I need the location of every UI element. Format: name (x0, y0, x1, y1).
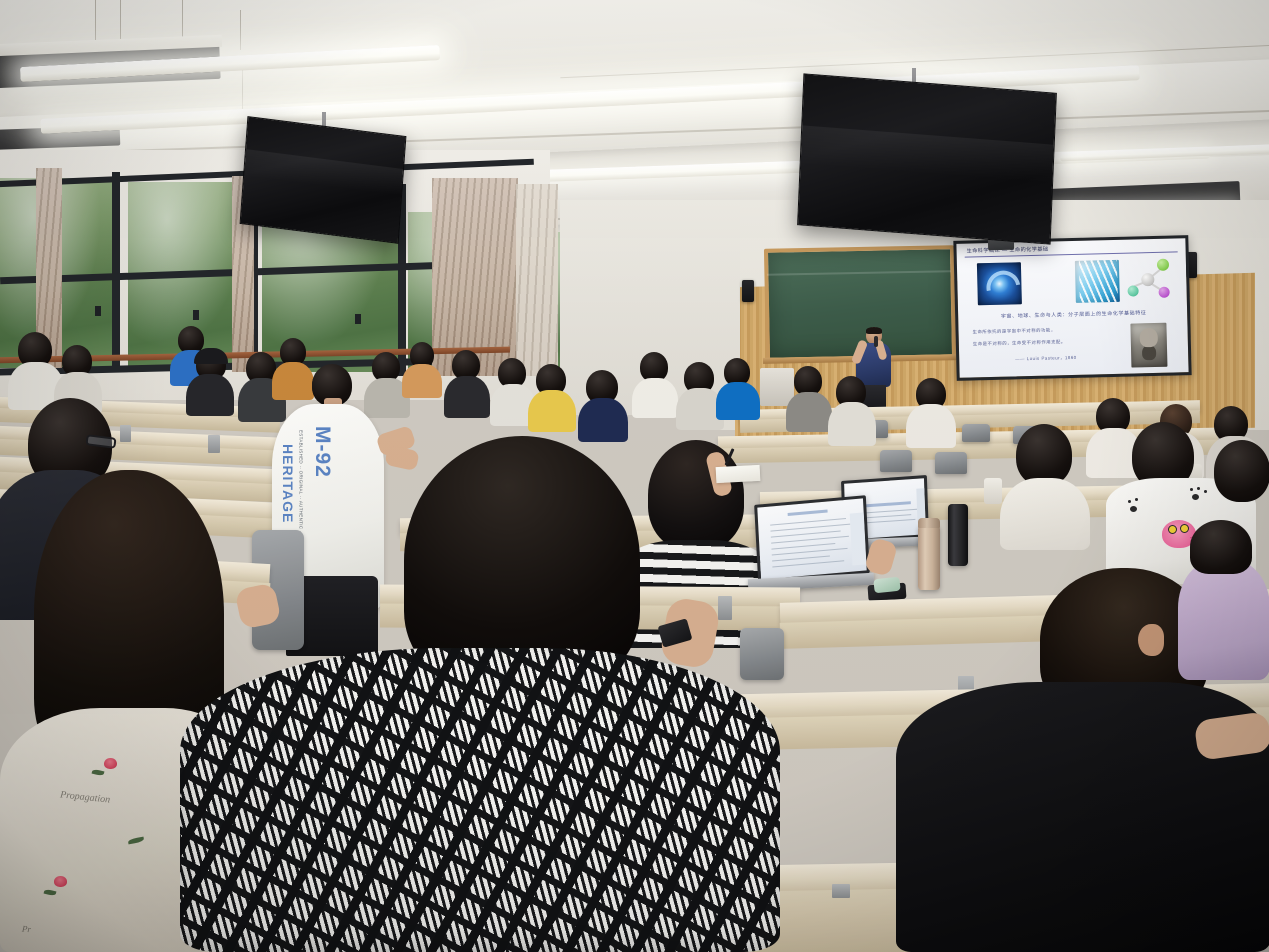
student-torso (1000, 478, 1090, 550)
bottle-black[interactable] (948, 504, 968, 566)
seat-back[interactable] (880, 450, 912, 472)
window-handle[interactable] (355, 314, 361, 324)
window-mullion (112, 172, 120, 372)
slide-quote-attribution: —— Louis Pasteur，1860 (1015, 355, 1077, 363)
cup-white[interactable] (984, 478, 1002, 504)
tv-right[interactable] (797, 73, 1057, 244)
molecule-image (1125, 257, 1174, 304)
left-wall-speaker (742, 280, 754, 302)
student-patterned-shirt (180, 648, 780, 952)
student-ear (1138, 624, 1164, 656)
window-handle[interactable] (193, 310, 199, 320)
tee-print-main: M-92 (310, 426, 334, 478)
lecture-hall-photo: 生命科学概论 — 生命的化学基础 宇宙、地球、生命与人类：分子层面上的生命化学基… (0, 0, 1269, 952)
student-head (1214, 440, 1269, 502)
desk-divider-clip (718, 596, 732, 620)
lecturer-hair (866, 327, 882, 334)
light-hanger (240, 10, 241, 50)
seat-back[interactable] (962, 424, 990, 442)
galaxy-image (977, 262, 1022, 305)
student-head (1016, 424, 1072, 486)
laptop-foreground[interactable] (754, 495, 870, 583)
slide-body-text: 宇宙、地球、生命与人类：分子层面上的生命化学基础特征 (972, 308, 1175, 320)
student-heritage-hand (384, 445, 419, 471)
slide-quote-line-2: 生命是不对称的，生命受不对称作用支配。 (973, 339, 1066, 347)
shirt-script-text: Propagation (60, 789, 111, 805)
desk-divider-clip (832, 884, 850, 898)
thermos-beige[interactable] (918, 524, 940, 590)
student-head (1190, 520, 1252, 574)
seat-back[interactable] (935, 452, 967, 474)
notebook-open[interactable] (716, 465, 761, 483)
seat-back[interactable] (740, 628, 784, 680)
tv-left[interactable] (240, 116, 407, 244)
light-hanger (242, 65, 243, 110)
phone-charm (873, 577, 900, 594)
desk-divider-clip (208, 435, 220, 453)
curtain[interactable] (516, 184, 558, 376)
desk-divider-clip (120, 425, 131, 442)
slide-quote-line-1: 生命所依托的是宇宙中不对称的功能， (972, 327, 1055, 335)
tee-print-sub: HERITAGE (280, 444, 296, 523)
portrait-image (1130, 323, 1167, 368)
thermos-cap[interactable] (918, 518, 940, 528)
microphone[interactable] (874, 336, 878, 347)
student-lavender-tee (1178, 560, 1269, 680)
dna-image (1075, 260, 1120, 303)
projection-screen: 生命科学概论 — 生命的化学基础 宇宙、地球、生命与人类：分子层面上的生命化学基… (953, 235, 1191, 381)
window-handle[interactable] (95, 306, 101, 316)
